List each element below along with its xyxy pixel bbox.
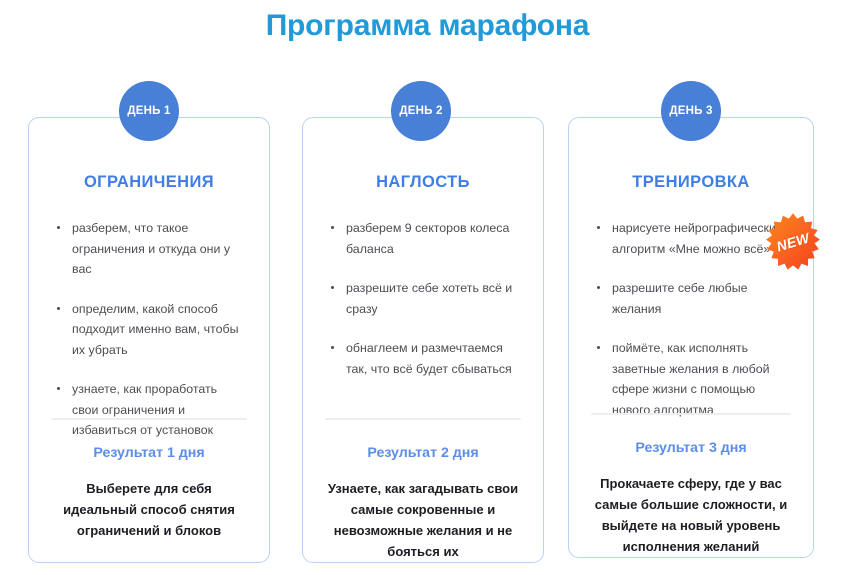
divider (325, 418, 521, 420)
card-heading-1: ОГРАНИЧЕНИЯ (49, 173, 249, 192)
day-badge-1: ДЕНЬ 1 (119, 81, 179, 141)
new-starburst-badge: NEW (763, 212, 823, 272)
day-card-2: НАГЛОСТЬ разберем 9 секторов колеса бала… (302, 117, 544, 563)
list-item: разберем, что такое ограничения и откуда… (55, 218, 245, 280)
list-item: поймёте, как исполнять заветные желания … (595, 338, 789, 420)
day-badge-3: ДЕНЬ 3 (661, 81, 721, 141)
divider (51, 418, 247, 420)
result-title-2: Результат 2 дня (323, 445, 523, 461)
result-title-3: Результат 3 дня (589, 440, 793, 456)
result-text-2: Узнаете, как загадывать свои самые сокро… (323, 478, 523, 562)
card-bullet-list-2: разберем 9 секторов колеса баланса разре… (323, 218, 523, 379)
card-heading-2: НАГЛОСТЬ (323, 173, 523, 192)
day-card-1: ОГРАНИЧЕНИЯ разберем, что такое ограниче… (28, 117, 270, 563)
divider (591, 413, 791, 415)
result-text-1: Выберете для себя идеальный способ сняти… (49, 478, 249, 541)
program-schedule-page: Программа марафона ОГРАНИЧЕНИЯ разберем,… (0, 0, 855, 575)
result-block-1: Результат 1 дня Выберете для себя идеаль… (49, 418, 249, 541)
day-badge-2: ДЕНЬ 2 (391, 81, 451, 141)
day-card-3: ТРЕНИРОВКА нарисуете нейрографический ал… (568, 117, 814, 558)
list-item: обнаглеем и размечтаемся так, что всё бу… (329, 338, 519, 379)
list-item: разрешите себе любые желания (595, 278, 789, 319)
result-text-3: Прокачаете сферу, где у вас самые больши… (589, 473, 793, 557)
page-title: Программа марафона (0, 4, 855, 48)
card-heading-3: ТРЕНИРОВКА (589, 173, 793, 192)
result-block-3: Результат 3 дня Прокачаете сферу, где у … (589, 413, 793, 557)
card-bullet-list-1: разберем, что такое ограничения и откуда… (49, 218, 249, 441)
result-title-1: Результат 1 дня (49, 445, 249, 461)
list-item: разберем 9 секторов колеса баланса (329, 218, 519, 259)
list-item: определим, какой способ подходит именно … (55, 299, 245, 361)
day-cards-container: ОГРАНИЧЕНИЯ разберем, что такое ограниче… (0, 117, 855, 567)
list-item: разрешите себе хотеть всё и сразу (329, 278, 519, 319)
result-block-2: Результат 2 дня Узнаете, как загадывать … (323, 418, 523, 562)
